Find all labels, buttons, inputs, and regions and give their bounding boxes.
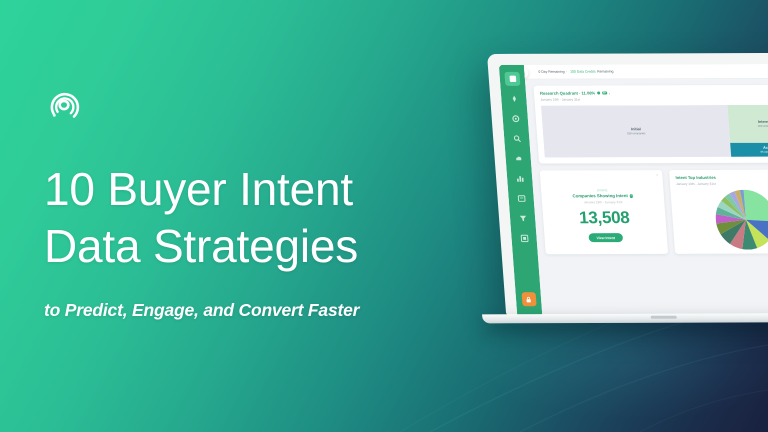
view-intent-button[interactable]: View Intent bbox=[588, 233, 623, 242]
intent-count-value: 13,508 bbox=[578, 208, 630, 228]
treemap-segment-active[interactable]: Active 66 companies bbox=[730, 143, 768, 157]
quadrant-card-title-row: Research Quadrant - 11.08% B+ › bbox=[540, 90, 768, 96]
status-dot-icon bbox=[597, 91, 601, 95]
intent-card-title: Companies Showing Intent bbox=[572, 194, 628, 199]
intent-date-range: January 19th - January 31st bbox=[584, 200, 623, 204]
treemap-active-count: 66 companies bbox=[760, 151, 768, 154]
treemap-segment-initial[interactable]: Initial 528 companies bbox=[541, 105, 731, 158]
trial-status-bar: 0 Day Remaining - 100 Data Credits Remai… bbox=[524, 64, 768, 80]
sidebar-item-search[interactable] bbox=[509, 132, 525, 146]
days-remaining-label: 0 Day Remaining bbox=[538, 70, 564, 74]
app-main: 0 Day Remaining - 100 Data Credits Remai… bbox=[524, 64, 768, 315]
laptop-base-notch bbox=[651, 316, 677, 319]
sidebar-item-list[interactable] bbox=[513, 192, 529, 206]
close-icon[interactable]: × bbox=[656, 173, 658, 177]
industries-card-title: Intent Top Industries bbox=[675, 175, 716, 180]
sidebar-item-chart[interactable] bbox=[512, 172, 528, 186]
industries-date-range: January 19th - January 31st bbox=[676, 182, 716, 186]
intent-card-kicker: (Intent) bbox=[597, 188, 607, 192]
treemap-initial-label: Initial bbox=[631, 127, 641, 131]
title-line-2: Data Strategies bbox=[44, 218, 464, 275]
quadrant-treemap: Initial 528 companies Interested 209 com… bbox=[541, 105, 768, 158]
hero-text-block: 10 Buyer Intent Data Strategies to Predi… bbox=[44, 86, 464, 321]
spiral-target-logo bbox=[44, 86, 84, 126]
sidebar-item-grid[interactable] bbox=[516, 231, 532, 245]
credits-suffix-label: Remaining bbox=[597, 70, 614, 74]
laptop-base bbox=[482, 313, 768, 323]
treemap-segment-interested[interactable]: Interested 209 companies bbox=[727, 105, 768, 144]
title-line-1: 10 Buyer Intent bbox=[44, 161, 464, 218]
expand-chevron-icon[interactable]: › bbox=[609, 91, 610, 95]
research-quadrant-card: Research Quadrant - 11.08% B+ › January … bbox=[533, 85, 768, 164]
sidebar-item-rocket[interactable] bbox=[506, 92, 522, 106]
treemap-initial-count: 528 companies bbox=[627, 132, 645, 135]
treemap-interested-count: 209 companies bbox=[758, 125, 768, 128]
page-title: 10 Buyer Intent Data Strategies bbox=[44, 161, 464, 275]
topbar-separator: - bbox=[566, 70, 567, 74]
industries-pie-chart[interactable] bbox=[713, 190, 768, 255]
sidebar-item-cloud[interactable] bbox=[510, 152, 526, 166]
sidebar-item-target[interactable] bbox=[507, 112, 523, 126]
info-icon[interactable]: i bbox=[629, 194, 633, 198]
sidebar-item-dashboard[interactable] bbox=[504, 72, 520, 86]
sidebar-item-filter[interactable] bbox=[515, 211, 531, 225]
laptop-mockup: 0 Day Remaining - 100 Data Credits Remai… bbox=[487, 53, 768, 353]
quadrant-date-range: January 19th - January 31st bbox=[540, 97, 768, 102]
intent-card-title-row: Companies Showing Intent i bbox=[572, 194, 633, 199]
laptop-screen: 0 Day Remaining - 100 Data Credits Remai… bbox=[499, 64, 768, 315]
quadrant-card-title: Research Quadrant - 11.08% bbox=[540, 91, 596, 96]
lock-icon[interactable] bbox=[521, 292, 536, 306]
treemap-right-column: Interested 209 companies Active 66 compa… bbox=[727, 105, 768, 157]
laptop-lid: 0 Day Remaining - 100 Data Credits Remai… bbox=[487, 53, 768, 315]
intent-top-industries-card: Intent Top Industries January 19th - Jan… bbox=[669, 170, 768, 254]
companies-showing-intent-card: × (Intent) Companies Showing Intent i Ja… bbox=[540, 170, 668, 254]
pie-slice[interactable] bbox=[743, 190, 768, 222]
grade-badge: B+ bbox=[602, 91, 608, 95]
page-subtitle: to Predict, Engage, and Convert Faster bbox=[44, 300, 464, 321]
dashboard-bottom-row: × (Intent) Companies Showing Intent i Ja… bbox=[540, 170, 768, 255]
treemap-active-label: Active bbox=[763, 146, 768, 150]
data-credits-link[interactable]: 100 Data Credits bbox=[570, 70, 596, 74]
treemap-interested-label: Interested bbox=[758, 120, 768, 124]
